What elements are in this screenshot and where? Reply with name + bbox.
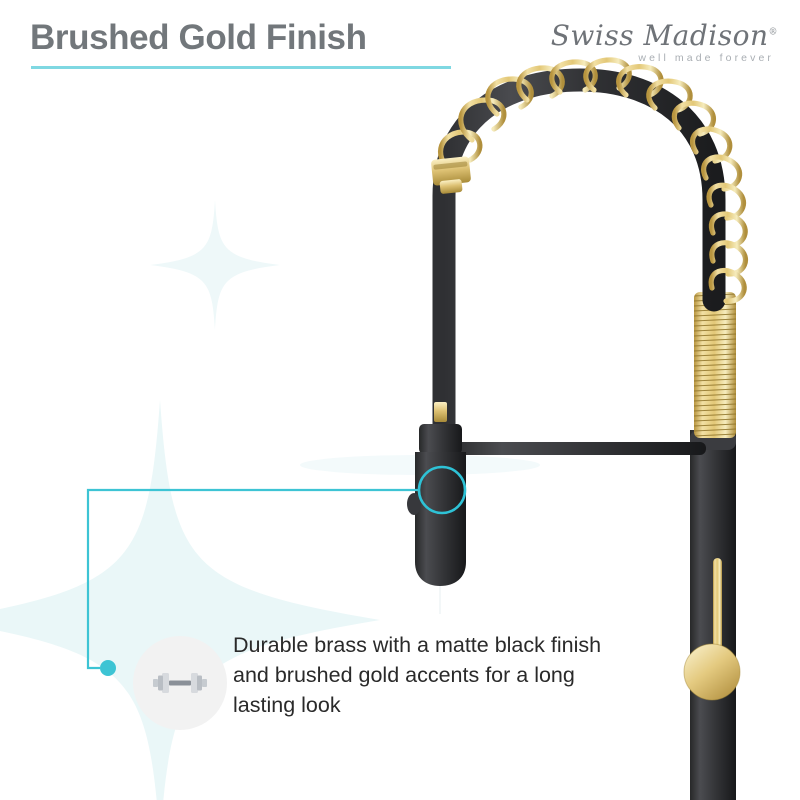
- sparkle-small-top-icon: [150, 200, 280, 330]
- tight-coil: [694, 292, 736, 438]
- registered-mark-icon: ®: [769, 28, 779, 38]
- sparkle-large-bottom-icon: [0, 400, 380, 800]
- coil-spring: [441, 60, 746, 301]
- feature-caption: Durable brass with a matte black finish …: [133, 622, 633, 730]
- sparkle-faint-right-icon: [300, 420, 540, 510]
- gold-collar: [431, 156, 472, 194]
- hose-arch: [444, 80, 714, 430]
- spout-arm: [444, 442, 706, 455]
- brand-name-text: Swiss Madison: [551, 19, 769, 52]
- brand-name: Swiss Madison®: [543, 22, 778, 50]
- faucet-column: [690, 430, 736, 800]
- product-feature-slide: Brushed Gold Finish Swiss Madison® well …: [0, 0, 800, 800]
- title-underline: [31, 66, 451, 69]
- sprayer-head: [407, 402, 466, 614]
- brand-logo: Swiss Madison® well made forever: [543, 22, 778, 64]
- brand-tagline: well made forever: [543, 52, 778, 64]
- caption-text: Durable brass with a matte black finish …: [233, 630, 633, 720]
- sprayer-button: [407, 493, 421, 515]
- caption-icon-badge: [133, 636, 227, 730]
- gold-lever-handle: [684, 558, 740, 700]
- page-title: Brushed Gold Finish: [30, 18, 367, 58]
- dumbbell-icon: [149, 666, 211, 700]
- annotation-circle-icon: [419, 467, 465, 513]
- annotation-dot-icon: [100, 660, 116, 676]
